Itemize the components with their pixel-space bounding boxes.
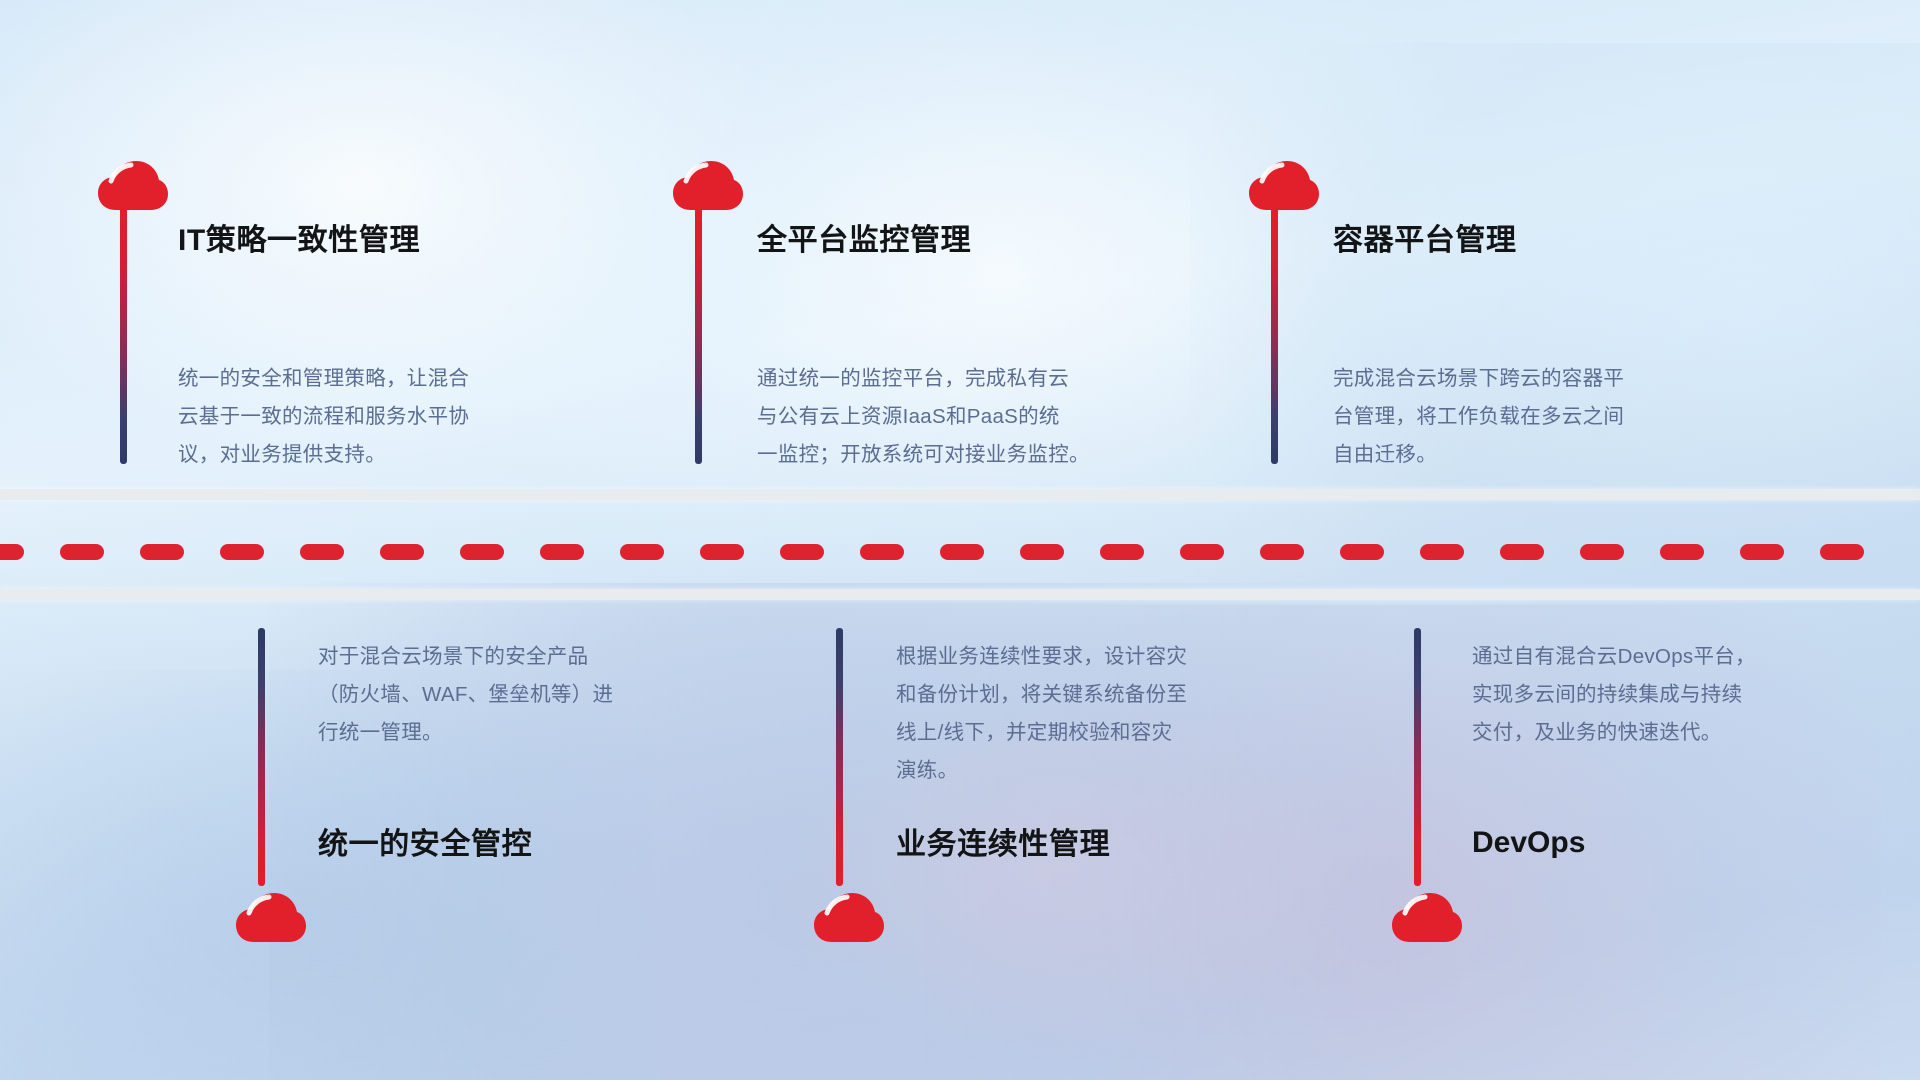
road-dash: [540, 544, 584, 560]
bottom-column-title-1: 统一的安全管控: [318, 828, 532, 861]
bottom-column-title-3: DevOps: [1472, 826, 1585, 859]
bottom-column-body-2: 根据业务连续性要求，设计容灾 和备份计划，将关键系统备份至 线上/线下，并定期校…: [896, 638, 1326, 791]
bottom-column-title-2: 业务连续性管理: [896, 828, 1110, 861]
stem-connector: [836, 628, 843, 886]
cloud-icon: [671, 158, 743, 214]
cloud-icon: [1247, 158, 1319, 214]
road-dash: [620, 544, 664, 560]
bottom-column-body-1: 对于混合云场景下的安全产品 （防火墙、WAF、堡垒机等）进 行统一管理。: [318, 638, 748, 752]
road-dash: [140, 544, 184, 560]
stem-connector: [258, 628, 265, 886]
road-dash: [380, 544, 424, 560]
road-dash: [780, 544, 824, 560]
road-edge-bottom: [0, 589, 1920, 600]
road-edge-top: [0, 489, 1920, 500]
stem-connector: [695, 206, 702, 464]
road-dash: [0, 544, 24, 560]
top-column-body-1: 统一的安全和管理策略，让混合 云基于一致的流程和服务水平协 议，对业务提供支持。: [178, 360, 608, 474]
road-dash: [700, 544, 744, 560]
road-dash: [860, 544, 904, 560]
top-column-title-3: 容器平台管理: [1333, 224, 1517, 257]
road-center-dashes: [0, 543, 1900, 561]
road-dash: [1500, 544, 1544, 560]
top-column-title-2: 全平台监控管理: [757, 224, 971, 257]
road-dash: [1180, 544, 1224, 560]
road-dash: [1820, 544, 1864, 560]
top-column-title-1: IT策略一致性管理: [178, 224, 420, 257]
road-dash: [220, 544, 264, 560]
infographic-canvas: IT策略一致性管理 统一的安全和管理策略，让混合 云基于一致的流程和服务水平协 …: [0, 0, 1920, 1080]
road-dash: [1740, 544, 1784, 560]
top-column-body-3: 完成混合云场景下跨云的容器平 台管理，将工作负载在多云之间 自由迁移。: [1333, 360, 1763, 474]
road-dash: [940, 544, 984, 560]
cloud-icon: [812, 890, 884, 946]
road-dash: [460, 544, 504, 560]
road-dash: [1260, 544, 1304, 560]
road-dash: [1420, 544, 1464, 560]
stem-connector: [1271, 206, 1278, 464]
road-dash: [1100, 544, 1144, 560]
road-dash: [60, 544, 104, 560]
cloud-icon: [96, 158, 168, 214]
road-dash: [300, 544, 344, 560]
road-dash: [1660, 544, 1704, 560]
bottom-column-body-3: 通过自有混合云DevOps平台， 实现多云间的持续集成与持续 交付，及业务的快速…: [1472, 638, 1902, 752]
stem-connector: [1414, 628, 1421, 886]
road-dash: [1020, 544, 1064, 560]
stem-connector: [120, 206, 127, 464]
cloud-icon: [1390, 890, 1462, 946]
road-dash: [1340, 544, 1384, 560]
road-dash: [1580, 544, 1624, 560]
cloud-icon: [234, 890, 306, 946]
top-column-body-2: 通过统一的监控平台，完成私有云 与公有云上资源IaaS和PaaS的统 一监控；开…: [757, 360, 1197, 474]
